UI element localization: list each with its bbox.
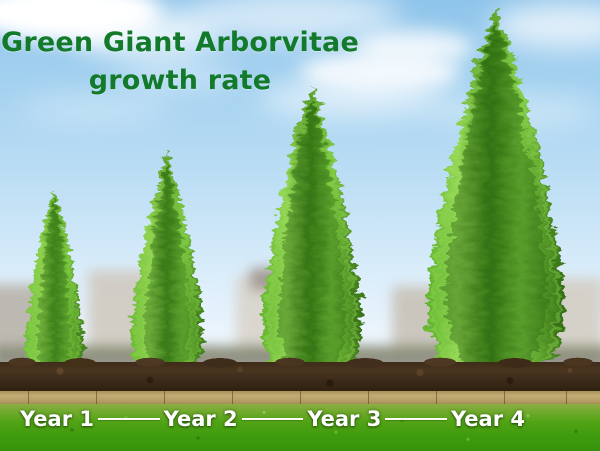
arborvitae-growth-infographic: Green Giant Arborvitae growth rate Year … [0,0,600,451]
edging-seam [566,391,567,405]
grass-texture [0,404,600,451]
edging-seam [96,391,97,405]
edging-seam [436,391,437,405]
tree-year-3 [246,82,378,390]
edging-seam [28,391,29,405]
soil-texture [0,362,600,392]
edging-seam [232,391,233,405]
cloud-icon [120,62,240,88]
garden-edging [0,391,600,405]
cloud-icon [20,96,170,122]
tree-year-2 [118,149,216,389]
tree-year-4 [396,6,596,391]
edging-seam [300,391,301,405]
edging-seam [504,391,505,405]
edging-seam [368,391,369,405]
edging-seam [164,391,165,405]
